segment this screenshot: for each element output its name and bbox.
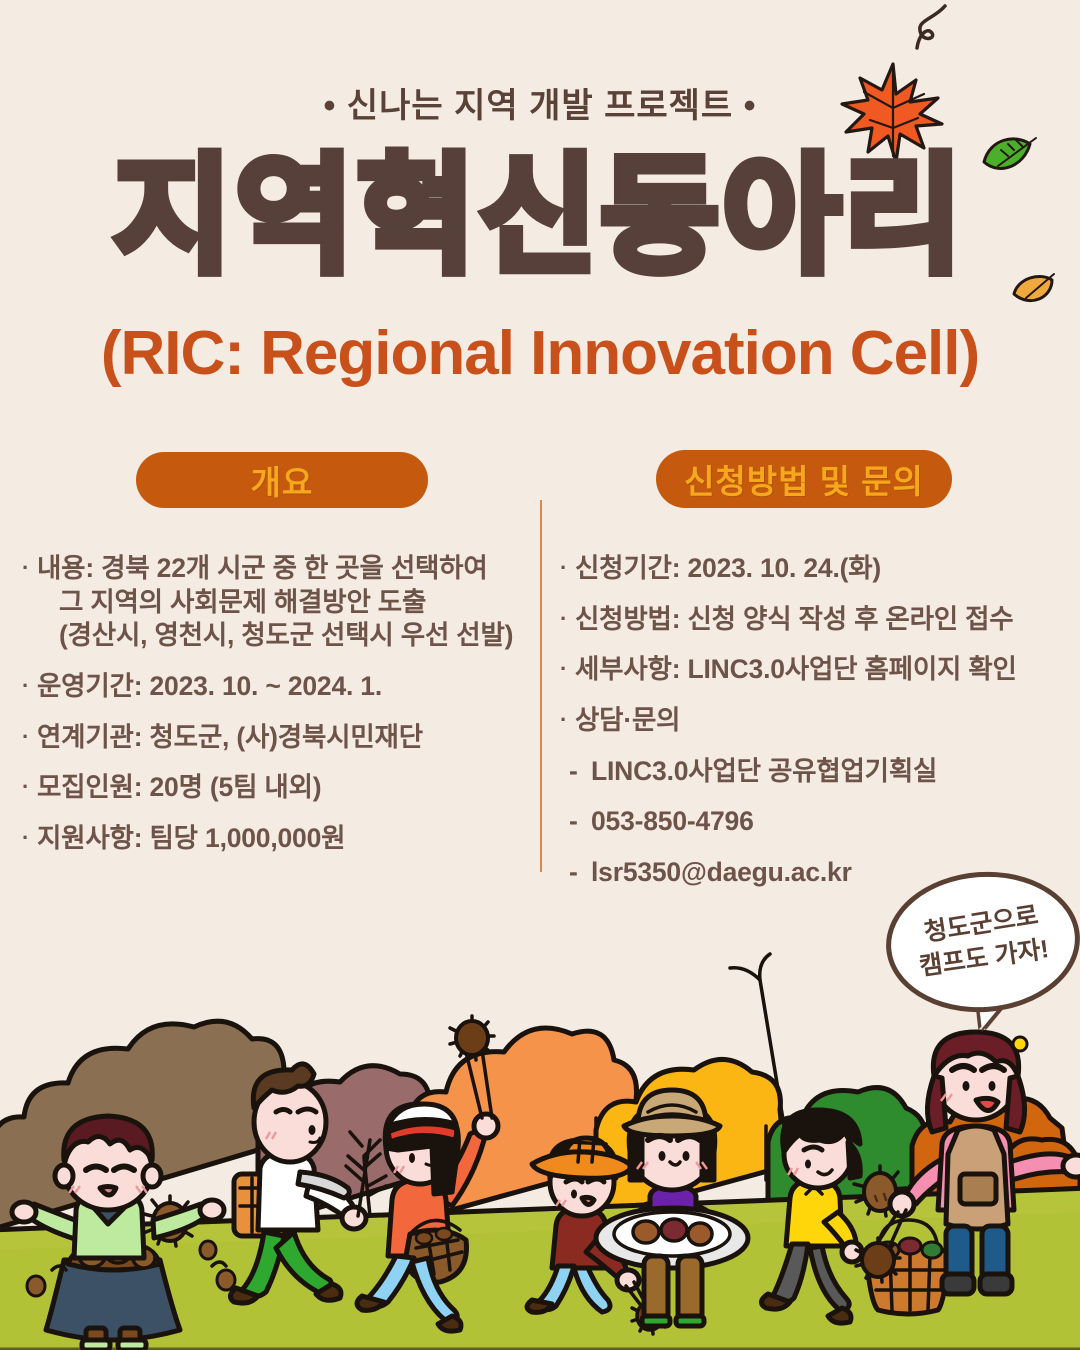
list-item-line: 연계기관: 청도군, (사)경북시민재단 <box>37 721 534 755</box>
bullet-icon: · <box>560 653 575 685</box>
bullet-icon: · <box>22 552 37 584</box>
list-item-line: (경산시, 영천시, 청도군 선택시 우선 선발) <box>37 619 534 653</box>
overview-list: · 내용: 경북 22개 시군 중 한 곳을 선택하여 그 지역의 사회문제 해… <box>22 552 534 872</box>
email-address[interactable]: lsr5350@daegu.ac.kr <box>591 856 852 890</box>
bullet-icon: · <box>560 704 575 736</box>
list-item: · 연계기관: 청도군, (사)경북시민재단 <box>22 721 534 755</box>
list-item-line: 운영기간: 2023. 10. ~ 2024. 1. <box>37 670 534 704</box>
contact-item-phone[interactable]: - 053-850-4796 <box>560 805 1060 839</box>
dash-icon: - <box>569 856 591 890</box>
bullet-icon: · <box>560 552 575 584</box>
list-item-line: 지원사항: 팀당 1,000,000원 <box>37 822 534 856</box>
list-item: · 내용: 경북 22개 시군 중 한 곳을 선택하여 그 지역의 사회문제 해… <box>22 552 534 653</box>
list-item-line: 상담·문의 <box>575 704 1060 738</box>
phone-number[interactable]: 053-850-4796 <box>591 805 754 839</box>
list-item: · 모집인원: 20명 (5팀 내외) <box>22 771 534 805</box>
dash-icon: - <box>569 805 591 839</box>
contact-item-department: - LINC3.0사업단 공유협업기획실 <box>560 755 1060 789</box>
tagline: • 신나는 지역 개발 프로젝트 • <box>0 78 1080 127</box>
list-item-line: 모집인원: 20명 (5팀 내외) <box>37 771 534 805</box>
bullet-icon: · <box>22 822 37 854</box>
column-divider <box>540 500 542 872</box>
list-item: · 세부사항: LINC3.0사업단 홈페이지 확인 <box>560 653 1060 687</box>
section-badge-overview: 개요 <box>136 452 428 508</box>
bullet-icon: · <box>22 771 37 803</box>
section-badge-apply: 신청방법 및 문의 <box>656 450 952 508</box>
list-item: · 신청방법: 신청 양식 작성 후 온라인 접수 <box>560 603 1060 637</box>
page-subtitle: (RIC: Regional Innovation Cell) <box>0 318 1080 389</box>
list-item-line: 그 지역의 사회문제 해결방안 도출 <box>37 586 534 620</box>
contact-text: LINC3.0사업단 공유협업기획실 <box>591 755 937 789</box>
list-item-line: 신청기간: 2023. 10. 24.(화) <box>575 552 1060 586</box>
list-item: · 운영기간: 2023. 10. ~ 2024. 1. <box>22 670 534 704</box>
list-item: · 상담·문의 <box>560 704 1060 738</box>
list-item-line: 세부사항: LINC3.0사업단 홈페이지 확인 <box>575 653 1060 687</box>
list-item: · 신청기간: 2023. 10. 24.(화) <box>560 552 1060 586</box>
list-item-line: 신청방법: 신청 양식 작성 후 온라인 접수 <box>575 603 1060 637</box>
apply-list: · 신청기간: 2023. 10. 24.(화) · 신청방법: 신청 양식 작… <box>560 552 1060 906</box>
list-item-line: 내용: 경북 22개 시군 중 한 곳을 선택하여 <box>37 552 534 586</box>
bullet-icon: · <box>22 670 37 702</box>
list-item: · 지원사항: 팀당 1,000,000원 <box>22 822 534 856</box>
bullet-icon: · <box>560 603 575 635</box>
page-title: 지역혁신동아리 <box>0 150 1080 284</box>
poster-root: • 신나는 지역 개발 프로젝트 • 지역혁신동아리 (RIC: Regiona… <box>0 0 1080 1350</box>
bullet-icon: · <box>22 721 37 753</box>
dash-icon: - <box>569 755 591 789</box>
